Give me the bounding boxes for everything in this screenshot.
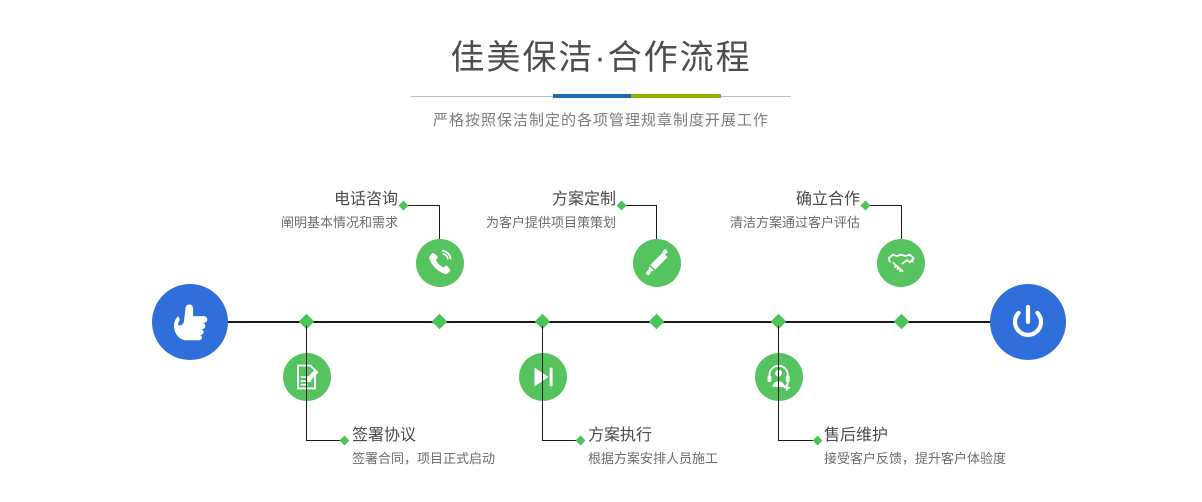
header: 佳美保洁·合作流程 严格按照保洁制定的各项管理规章制度开展工作 — [0, 0, 1202, 130]
title-divider — [411, 94, 791, 98]
axis-marker-5 — [894, 314, 910, 330]
step-label-4: 方案执行 根据方案安排人员施工 — [588, 426, 818, 469]
play-next-icon — [529, 363, 557, 391]
step-name-6: 售后维护 — [824, 426, 1074, 446]
headset-support-icon — [765, 363, 793, 391]
power-icon — [1006, 300, 1050, 344]
step-name-5: 确立合作 — [640, 190, 860, 210]
step-name-4: 方案执行 — [588, 426, 818, 446]
step-label-1: 电话咨询 阐明基本情况和需求 — [178, 190, 398, 233]
connector-tip-3 — [617, 201, 627, 211]
handshake-icon — [886, 249, 916, 277]
cooperation-process-infographic: 佳美保洁·合作流程 严格按照保洁制定的各项管理规章制度开展工作 — [0, 0, 1202, 502]
step-node-6[interactable] — [755, 353, 803, 401]
step-label-6: 售后维护 接受客户反馈，提升客户体验度 — [824, 426, 1074, 469]
step-name-2: 签署协议 — [352, 426, 582, 446]
connector-hline-6 — [778, 440, 816, 441]
timeline-end-endcap — [990, 284, 1066, 360]
step-desc-6: 接受客户反馈，提升客户体验度 — [824, 446, 1074, 469]
page-subtitle: 严格按照保洁制定的各项管理规章制度开展工作 — [0, 98, 1202, 130]
connector-vline-6 — [778, 326, 779, 440]
connector-vline-2 — [306, 326, 307, 440]
step-label-2: 签署协议 签署合同，项目正式启动 — [352, 426, 582, 469]
divider-segment-blue — [553, 94, 631, 98]
step-name-1: 电话咨询 — [178, 190, 398, 210]
step-desc-4: 根据方案安排人员施工 — [588, 446, 818, 469]
step-desc-2: 签署合同，项目正式启动 — [352, 446, 582, 469]
step-name-3: 方案定制 — [396, 190, 616, 210]
step-node-3[interactable] — [633, 239, 681, 287]
axis-marker-1 — [432, 314, 448, 330]
pencil-design-icon — [643, 249, 671, 277]
step-node-1[interactable] — [416, 239, 464, 287]
step-desc-1: 阐明基本情况和需求 — [178, 210, 398, 233]
step-node-2[interactable] — [283, 353, 331, 401]
axis-marker-3 — [649, 314, 665, 330]
phone-ringing-icon — [426, 249, 454, 277]
connector-vline-5 — [901, 205, 902, 239]
step-desc-3: 为客户提供项目策策划 — [396, 210, 616, 233]
connector-tip-2 — [340, 436, 350, 446]
step-node-5[interactable] — [877, 239, 925, 287]
step-node-4[interactable] — [519, 353, 567, 401]
divider-segment-green — [631, 94, 721, 98]
timeline-start-endcap — [152, 284, 228, 360]
step-label-3: 方案定制 为客户提供项目策策划 — [396, 190, 616, 233]
connector-tip-5 — [861, 201, 871, 211]
step-label-5: 确立合作 清洁方案通过客户评估 — [640, 190, 860, 233]
pointing-hand-icon — [168, 302, 212, 342]
connector-vline-4 — [542, 326, 543, 440]
step-desc-5: 清洁方案通过客户评估 — [640, 210, 860, 233]
page-title: 佳美保洁·合作流程 — [0, 0, 1202, 80]
document-pen-icon — [293, 363, 321, 391]
